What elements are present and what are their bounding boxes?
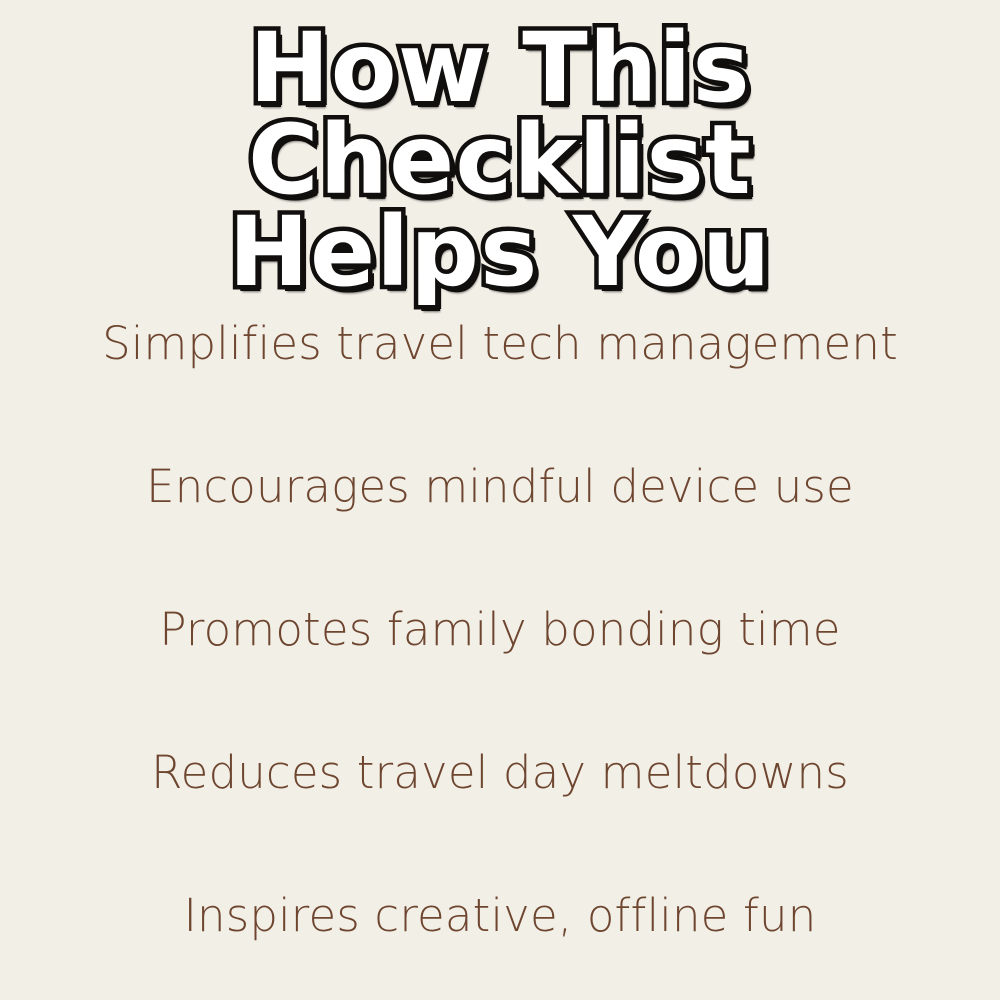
list-item: Simplifies travel tech management — [0, 272, 1000, 415]
list-item: Inspires creative, offline fun — [0, 844, 1000, 987]
page-title: How This Checklist Helps You — [0, 22, 1000, 298]
page-title-line-1: How This Checklist — [0, 22, 1000, 206]
benefit-label-5: Inspires creative, offline fun — [184, 891, 817, 941]
benefit-label-4: Reduces travel day meltdowns — [151, 748, 849, 798]
list-item: Reduces travel day meltdowns — [0, 701, 1000, 844]
benefits-list: Simplifies travel tech management Encour… — [0, 272, 1000, 987]
benefit-label-3: Promotes family bonding time — [159, 605, 840, 655]
list-item: Encourages mindful device use — [0, 415, 1000, 558]
benefit-label-1: Simplifies travel tech management — [102, 319, 898, 369]
benefit-label-2: Encourages mindful device use — [146, 462, 854, 512]
poster-canvas: How This Checklist Helps You Simplifies … — [0, 0, 1000, 1000]
list-item: Promotes family bonding time — [0, 558, 1000, 701]
